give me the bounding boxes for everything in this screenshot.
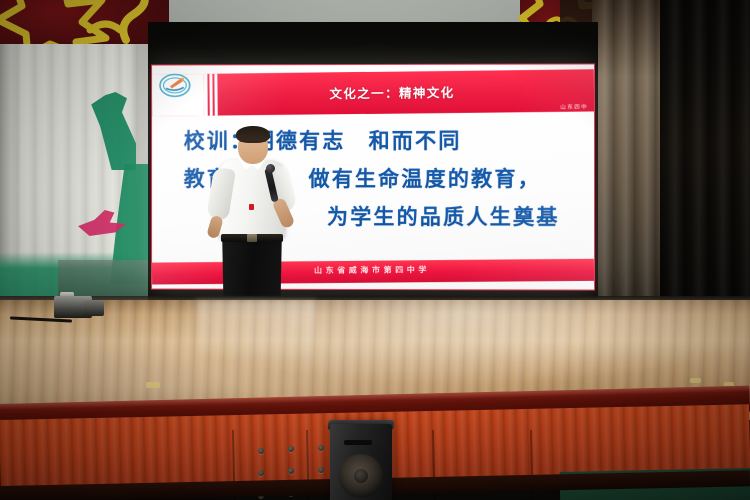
floor-scrap-3 bbox=[690, 378, 701, 383]
vent-hole bbox=[288, 468, 294, 474]
slide-header-bar: 文化之一：精神文化 山东四中 bbox=[152, 69, 594, 116]
microphone-head-icon bbox=[266, 164, 275, 173]
auditorium-stage-photo: 文化之一：精神文化 山东四中 校训：明德有志 和而不同 教育理念： 做有生命温度… bbox=[0, 0, 750, 500]
speaker-port bbox=[344, 440, 372, 445]
stage-light-unit-secondary bbox=[84, 300, 104, 316]
vent-hole bbox=[318, 445, 324, 451]
floor-scrap-1 bbox=[146, 382, 160, 388]
vent-hole bbox=[318, 467, 324, 473]
slide-line-3: 为学生的品质人生奠基 bbox=[327, 201, 560, 231]
backdrop-banner bbox=[0, 44, 152, 300]
curtain-far-right bbox=[660, 0, 750, 316]
vent-hole bbox=[258, 470, 264, 476]
presenter-belt-buckle bbox=[247, 234, 257, 242]
slide-watermark: 山东四中 bbox=[560, 102, 588, 110]
glasses-icon bbox=[240, 141, 266, 146]
speaker-dust-cap bbox=[354, 469, 368, 483]
vent-hole bbox=[258, 448, 264, 454]
school-emblem-icon bbox=[158, 70, 192, 100]
floor-speaker-cabinet bbox=[330, 424, 392, 500]
presenter-floor-reflection bbox=[196, 300, 316, 362]
slide-title: 文化之一：精神文化 bbox=[152, 80, 594, 104]
vent-hole bbox=[288, 446, 294, 452]
presenter-lapel-pin bbox=[249, 204, 254, 210]
